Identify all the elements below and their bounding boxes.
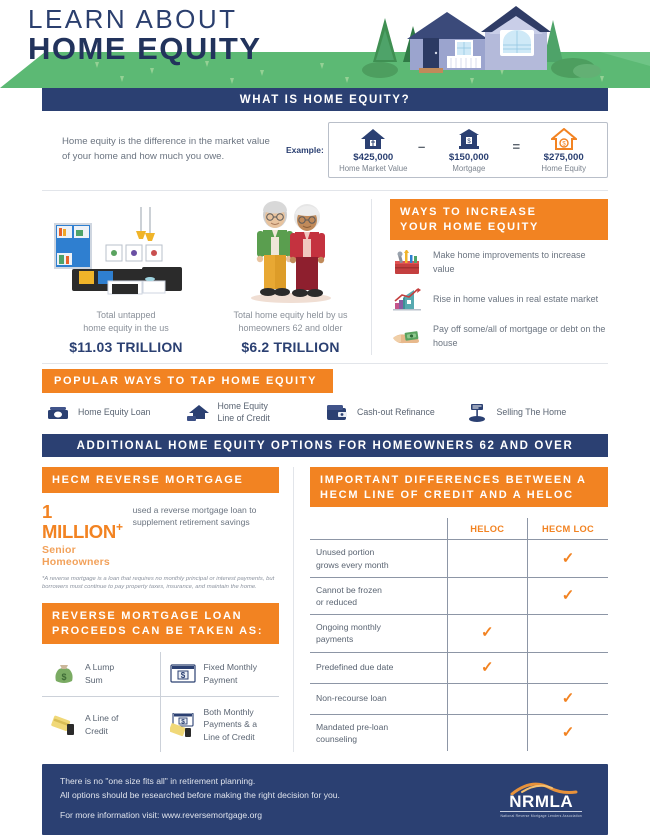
svg-text:$: $ xyxy=(181,718,185,725)
nrmla-wordmark: NRMLA xyxy=(500,793,582,810)
proceeds-option-fixed-monthly: $ Fixed Monthly Payment xyxy=(161,652,280,697)
comparison-column: IMPORTANT DIFFERENCES BETWEEN A HECM LIN… xyxy=(294,467,608,753)
row-label-line1: Mandated pre-loan xyxy=(316,722,388,732)
way-item-payoff: Pay off some/all of mortgage or debt on … xyxy=(390,323,608,351)
footer-text: There is no "one size fits all" in retir… xyxy=(60,775,500,822)
cell-hecm: ✓ xyxy=(528,540,608,577)
popular-way-label: Selling The Home xyxy=(497,407,567,419)
table-row: Cannot be frozen or reduced ✓ xyxy=(310,577,608,614)
ways-to-increase-section: WAYS TO INCREASE YOUR HOME EQUITY xyxy=(372,199,608,355)
hecm-column: HECM REVERSE MORTGAGE 1 MILLION+ Senior … xyxy=(42,467,294,753)
proceeds-label-line1: Both Monthly xyxy=(204,707,254,717)
stat-caption-line1: Total home equity held by us xyxy=(233,310,347,320)
proceeds-option-label: Both Monthly Payments & a Line of Credit xyxy=(204,706,258,743)
col-header-hecm-loc: HECM LOC xyxy=(528,518,608,540)
cell-hecm: ✓ xyxy=(528,683,608,714)
hero-title-line1: LEARN ABOUT xyxy=(28,6,262,33)
cell-heloc xyxy=(447,540,527,577)
example-item-home-equity: $ $275,000 Home Equity xyxy=(531,128,597,173)
row-label-line2: or reduced xyxy=(316,597,357,607)
cell-heloc: ✓ xyxy=(447,615,527,652)
example-item-market-value: $425,000 Home Market Value xyxy=(339,128,407,173)
example-amount: $275,000 xyxy=(531,152,597,163)
stat-senior-equity: Total home equity held by us homeowners … xyxy=(210,199,371,355)
cell-hecm xyxy=(528,652,608,683)
proceeds-option-label: Fixed Monthly Payment xyxy=(204,661,258,686)
stat-caption: Total home equity held by us homeowners … xyxy=(214,309,367,335)
hero-title-line2: HOME EQUITY xyxy=(28,33,262,66)
popular-way-home-equity-loan: Home Equity Loan xyxy=(46,402,186,424)
popular-way-label-line1: Home Equity xyxy=(218,401,268,411)
way-item-text: Rise in home values in real estate marke… xyxy=(433,293,598,307)
hecm-stat: 1 MILLION+ Senior Homeowners used a reve… xyxy=(42,502,279,568)
check-dollar-icon: $ xyxy=(169,661,197,687)
row-label-line1: Cannot be frozen xyxy=(316,585,382,595)
way-item-text: Make home improvements to increase value xyxy=(433,249,608,276)
hecm-stat-number: 1 MILLION+ xyxy=(42,502,123,542)
stat-caption-line2: homeowners 62 and older xyxy=(238,323,342,333)
proceeds-banner-line2: PROCEEDS CAN BE TAKEN AS: xyxy=(52,624,269,639)
row-label-line2: payments xyxy=(316,634,353,644)
cell-heloc xyxy=(447,577,527,614)
hecm-stat-sub: Senior Homeowners xyxy=(42,544,123,568)
house-illustration xyxy=(407,6,551,73)
hecm-stat-plus: + xyxy=(116,520,123,534)
row-label: Mandated pre-loan counseling xyxy=(310,714,447,751)
row-label-line1: Predefined due date xyxy=(316,662,393,672)
example-caption: Mortgage xyxy=(436,164,502,173)
stat-untapped-equity: Total untapped home equity in the us $11… xyxy=(42,199,210,355)
house-scene-illustration xyxy=(355,0,650,82)
proceeds-banner: REVERSE MORTGAGE LOAN PROCEEDS CAN BE TA… xyxy=(42,603,279,644)
popular-way-selling-the-home: Selling The Home xyxy=(465,402,605,424)
popular-way-label: Home Equity Loan xyxy=(78,407,150,419)
row-label: Cannot be frozen or reduced xyxy=(310,577,447,614)
table-header-row: HELOC HECM LOC xyxy=(310,518,608,540)
example-amount: $150,000 xyxy=(436,152,502,163)
additional-options-banner: ADDITIONAL HOME EQUITY OPTIONS FOR HOMEO… xyxy=(42,434,608,457)
senior-couple-icon xyxy=(214,199,367,303)
minus-operator: – xyxy=(416,139,427,162)
hecm-stat-text: used a reverse mortgage loan to suppleme… xyxy=(133,502,279,529)
ways-banner-line2: YOUR HOME EQUITY xyxy=(400,220,598,235)
footer-line3[interactable]: For more information visit: www.reversem… xyxy=(60,810,262,820)
example-caption: Home Market Value xyxy=(339,164,407,173)
house-orange-icon: $ xyxy=(531,128,597,150)
svg-text:$: $ xyxy=(180,671,185,680)
additional-options-section: HECM REVERSE MORTGAGE 1 MILLION+ Senior … xyxy=(42,457,608,753)
check-icon: ✓ xyxy=(562,725,575,740)
check-icon: ✓ xyxy=(481,625,494,640)
table-row: Non-recourse loan ✓ xyxy=(310,683,608,714)
hecm-fineprint: *A reverse mortgage is a loan that requi… xyxy=(42,575,279,593)
example-caption: Home Equity xyxy=(531,164,597,173)
hero-section: LEARN ABOUT HOME EQUITY xyxy=(0,0,650,88)
table-row: Ongoing monthly payments ✓ xyxy=(310,615,608,652)
popular-way-cash-out-refinance: Cash-out Refinance xyxy=(325,402,465,424)
proceeds-option-both: $ Both Monthly Payments & a Line of Cred… xyxy=(161,697,280,752)
example-item-mortgage: $ $150,000 Mortgage xyxy=(436,128,502,173)
what-is-home-equity-banner: WHAT IS HOME EQUITY? xyxy=(42,88,608,111)
money-bag-icon: $ xyxy=(50,661,78,687)
popular-way-label: Home Equity Line of Credit xyxy=(218,401,270,425)
proceeds-option-line-of-credit: A Line of Credit xyxy=(42,697,161,752)
popular-ways-banner: POPULAR WAYS TO TAP HOME EQUITY xyxy=(42,369,333,393)
for-sale-sign-icon xyxy=(465,402,489,424)
proceeds-banner-line1: REVERSE MORTGAGE LOAN xyxy=(52,609,269,624)
cell-heloc xyxy=(447,683,527,714)
home-equity-description: Home equity is the difference in the mar… xyxy=(42,135,280,165)
table-body: Unused portion grows every month ✓ Canno… xyxy=(310,540,608,751)
comparison-banner-line1: IMPORTANT DIFFERENCES BETWEEN A xyxy=(320,473,598,488)
credit-card-icon xyxy=(50,712,78,738)
proceeds-option-label: A Lump Sum xyxy=(85,661,114,686)
proceeds-label-line1: Fixed Monthly xyxy=(204,662,258,672)
col-header-blank xyxy=(310,518,447,540)
stat-value: $11.03 TRILLION xyxy=(46,339,206,355)
stats-and-ways-section: Total untapped home equity in the us $11… xyxy=(42,191,608,363)
house-navy-icon xyxy=(339,128,407,150)
check-card-icon: $ xyxy=(169,712,197,738)
proceeds-label-line2: Credit xyxy=(85,726,108,736)
svg-text:$: $ xyxy=(61,672,66,682)
proceeds-label-line1: A Line of xyxy=(85,713,118,723)
row-label-line1: Ongoing monthly xyxy=(316,622,381,632)
stat-caption: Total untapped home equity in the us xyxy=(46,309,206,335)
popular-way-heloc: Home Equity Line of Credit xyxy=(186,401,326,425)
cell-hecm xyxy=(528,615,608,652)
wallet-icon xyxy=(325,402,349,424)
comparison-table: HELOC HECM LOC Unused portion grows ever… xyxy=(310,518,608,751)
ways-banner-line1: WAYS TO INCREASE xyxy=(400,205,598,220)
stats-group: Total untapped home equity in the us $11… xyxy=(42,199,372,355)
row-label: Unused portion grows every month xyxy=(310,540,447,577)
proceeds-option-lump-sum: $ A Lump Sum xyxy=(42,652,161,697)
comparison-banner-line2: HECM LINE OF CREDIT AND A HELOC xyxy=(320,488,598,503)
row-label: Predefined due date xyxy=(310,652,447,683)
popular-way-label: Cash-out Refinance xyxy=(357,407,435,419)
hecm-banner: HECM REVERSE MORTGAGE xyxy=(42,467,279,493)
equals-operator: = xyxy=(510,139,522,162)
way-item-improvements: Make home improvements to increase value xyxy=(390,249,608,277)
ways-to-increase-banner: WAYS TO INCREASE YOUR HOME EQUITY xyxy=(390,199,608,240)
row-label-line1: Unused portion xyxy=(316,547,374,557)
cell-hecm: ✓ xyxy=(528,714,608,751)
proceeds-label-line2: Sum xyxy=(85,675,103,685)
proceeds-label-line2: Payment xyxy=(204,675,238,685)
proceeds-option-label: A Line of Credit xyxy=(85,712,118,737)
cell-heloc xyxy=(447,714,527,751)
check-icon: ✓ xyxy=(481,660,494,675)
senior-woman xyxy=(289,204,324,297)
row-label-line1: Non-recourse loan xyxy=(316,693,387,703)
way-item-market-rise: Rise in home values in real estate marke… xyxy=(390,286,608,314)
comparison-banner: IMPORTANT DIFFERENCES BETWEEN A HECM LIN… xyxy=(310,467,608,508)
proceeds-label-line2: Payments & a xyxy=(204,719,258,729)
proceeds-label-line3: Line of Credit xyxy=(204,732,255,742)
senior-man xyxy=(256,201,292,296)
living-room-icon xyxy=(46,199,206,303)
row-label-line2: counseling xyxy=(316,734,357,744)
popular-way-label-line2: Line of Credit xyxy=(218,413,270,423)
cell-heloc: ✓ xyxy=(447,652,527,683)
check-icon: ✓ xyxy=(562,691,575,706)
footer-line2: All options should be researched before … xyxy=(60,790,340,800)
hecm-stat-number-value: 1 MILLION xyxy=(42,501,116,543)
table-row: Predefined due date ✓ xyxy=(310,652,608,683)
check-icon: ✓ xyxy=(562,588,575,603)
check-icon: ✓ xyxy=(562,551,575,566)
table-row: Unused portion grows every month ✓ xyxy=(310,540,608,577)
col-header-heloc: HELOC xyxy=(447,518,527,540)
example-box: Example: $425,000 Home Market Value xyxy=(286,122,608,178)
pine-tree-icon xyxy=(373,18,397,62)
hero-title: LEARN ABOUT HOME EQUITY xyxy=(28,6,262,66)
nrmla-subtitle: National Reverse Mortgage Lenders Associ… xyxy=(500,814,582,818)
stat-value: $6.2 TRILLION xyxy=(214,339,367,355)
proceeds-label-line1: A Lump xyxy=(85,662,114,672)
house-credit-icon xyxy=(186,402,210,424)
row-label: Ongoing monthly payments xyxy=(310,615,447,652)
footer-line1: There is no "one size fits all" in retir… xyxy=(60,776,255,786)
cash-stack-icon xyxy=(46,402,70,424)
cell-hecm: ✓ xyxy=(528,577,608,614)
footer: There is no "one size fits all" in retir… xyxy=(42,764,608,834)
infographic-page: LEARN ABOUT HOME EQUITY WHAT IS HOME EQU… xyxy=(0,0,650,691)
table-row: Mandated pre-loan counseling ✓ xyxy=(310,714,608,751)
popular-ways-row: Home Equity Loan Home Equity Line of Cre… xyxy=(42,393,608,434)
proceeds-options-grid: $ A Lump Sum xyxy=(42,652,279,752)
example-label: Example: xyxy=(286,145,324,155)
row-label: Non-recourse loan xyxy=(310,683,447,714)
way-item-text: Pay off some/all of mortgage or debt on … xyxy=(433,323,608,350)
example-amount: $425,000 xyxy=(339,152,407,163)
what-is-home-equity-section: Home equity is the difference in the mar… xyxy=(42,111,608,190)
row-label-line2: grows every month xyxy=(316,560,389,570)
nrmla-logo: NRMLA National Reverse Mortgage Lenders … xyxy=(500,779,590,818)
hand-cash-icon xyxy=(390,323,424,351)
bank-icon: $ xyxy=(436,128,502,150)
stat-caption-line1: Total untapped xyxy=(96,310,155,320)
house-growth-chart-icon xyxy=(390,286,424,314)
stat-caption-line2: home equity in the us xyxy=(83,323,169,333)
toolbox-icon xyxy=(390,249,424,277)
